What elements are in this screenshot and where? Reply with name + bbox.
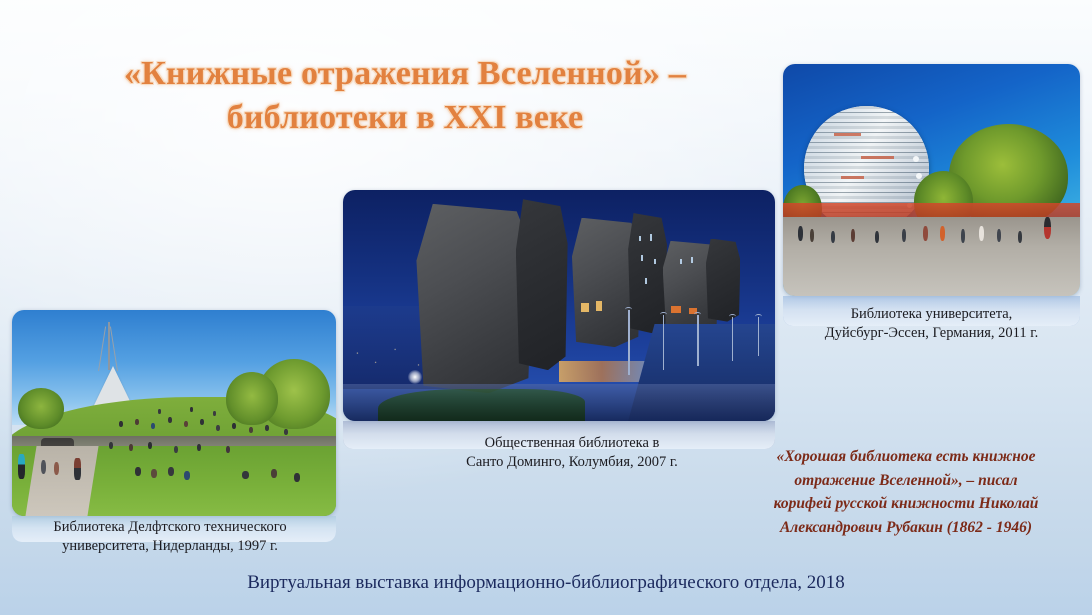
walking-path (26, 446, 99, 516)
person (961, 229, 965, 243)
street-lamp (732, 317, 734, 361)
person (200, 419, 204, 425)
caption-line: университета, Нидерланды, 1997 г. (8, 537, 332, 556)
rubakin-quote: «Хорошая библиотека есть книжное отражен… (728, 445, 1084, 539)
person (148, 442, 152, 449)
medellin-caption: Общественная библиотека в Санто Доминго,… (432, 434, 712, 472)
delft-scene (12, 310, 336, 516)
duisburg-essen-library-photo[interactable] (783, 64, 1080, 296)
facade-accent-1 (834, 133, 861, 136)
rock-block-1-shadow (516, 199, 568, 370)
page-title-line-2: библиотеки в XXI веке (60, 96, 750, 140)
rock-block-1 (416, 204, 533, 393)
porthole-1 (913, 156, 919, 162)
person (213, 411, 216, 416)
caption-line: Санто Доминго, Колумбия, 2007 г. (432, 453, 712, 472)
person (174, 446, 178, 453)
person (831, 231, 835, 243)
duisburg-caption: Библиотека университета, Дуйсбург-Эссен,… (783, 305, 1080, 343)
person (226, 446, 230, 453)
tree (226, 372, 278, 426)
person (184, 421, 188, 427)
window (645, 278, 647, 284)
person (979, 226, 984, 241)
window-lit (671, 306, 681, 313)
person (798, 226, 803, 241)
rock-block-3-shadow (706, 239, 741, 322)
quote-line: «Хорошая библиотека есть книжное (728, 445, 1084, 469)
person (109, 442, 113, 449)
person (190, 407, 193, 412)
person (158, 409, 161, 414)
person (923, 226, 928, 241)
duisburg-scene (783, 64, 1080, 296)
window (691, 257, 693, 263)
person (135, 419, 139, 425)
window (654, 259, 656, 264)
street-lamp (663, 315, 665, 370)
person (265, 425, 269, 431)
caption-line: Общественная библиотека в (432, 434, 712, 453)
caption-line: Дуйсбург-Эссен, Германия, 2011 г. (783, 324, 1080, 343)
person (271, 469, 277, 478)
person (129, 444, 133, 451)
medellin-scene (343, 190, 775, 421)
street-lamp (628, 310, 630, 375)
person (168, 417, 172, 423)
person (242, 471, 249, 479)
facade-accent-2 (861, 156, 893, 159)
person (135, 467, 141, 476)
foreground-shrubs (378, 389, 585, 421)
quote-line: отражение Вселенной», – писал (728, 469, 1084, 493)
person (810, 229, 814, 242)
facade-accent-3 (841, 176, 863, 179)
slide-footer: Виртуальная выставка информационно-библи… (0, 572, 1092, 594)
window (639, 236, 641, 241)
person-walking (74, 458, 81, 480)
page-title-line-1: «Книжные отражения Вселенной» – (60, 52, 750, 96)
window (680, 259, 682, 264)
street-lamp (697, 315, 699, 366)
person (119, 421, 123, 427)
delft-caption: Библиотека Делфтского технического униве… (8, 518, 332, 556)
street-lamp (758, 317, 760, 356)
window-lit (581, 303, 589, 312)
window-lit (596, 301, 602, 311)
caption-line: Библиотека университета, (783, 305, 1080, 324)
person (197, 444, 201, 451)
tree (18, 388, 63, 429)
presentation-slide: «Книжные отражения Вселенной» – библиоте… (0, 0, 1092, 615)
delft-library-photo[interactable] (12, 310, 336, 516)
plaza-ground (783, 217, 1080, 296)
santo-domingo-library-photo[interactable] (343, 190, 775, 421)
person (902, 229, 906, 242)
flood-light (408, 370, 422, 384)
quote-line: корифей русской книжности Николай (728, 492, 1084, 516)
person (151, 469, 157, 478)
window (641, 255, 643, 261)
person (249, 427, 253, 433)
person (168, 467, 174, 476)
person-standing (18, 454, 25, 479)
person (1018, 231, 1022, 243)
quote-line: Александрович Рубакин (1862 - 1946) (728, 516, 1084, 540)
person (294, 473, 300, 482)
window (650, 234, 652, 241)
page-title: «Книжные отражения Вселенной» – библиоте… (60, 52, 750, 139)
person (997, 229, 1001, 242)
mast (108, 322, 110, 369)
person (875, 231, 879, 243)
person (184, 471, 190, 480)
caption-line: Библиотека Делфтского технического (8, 518, 332, 537)
